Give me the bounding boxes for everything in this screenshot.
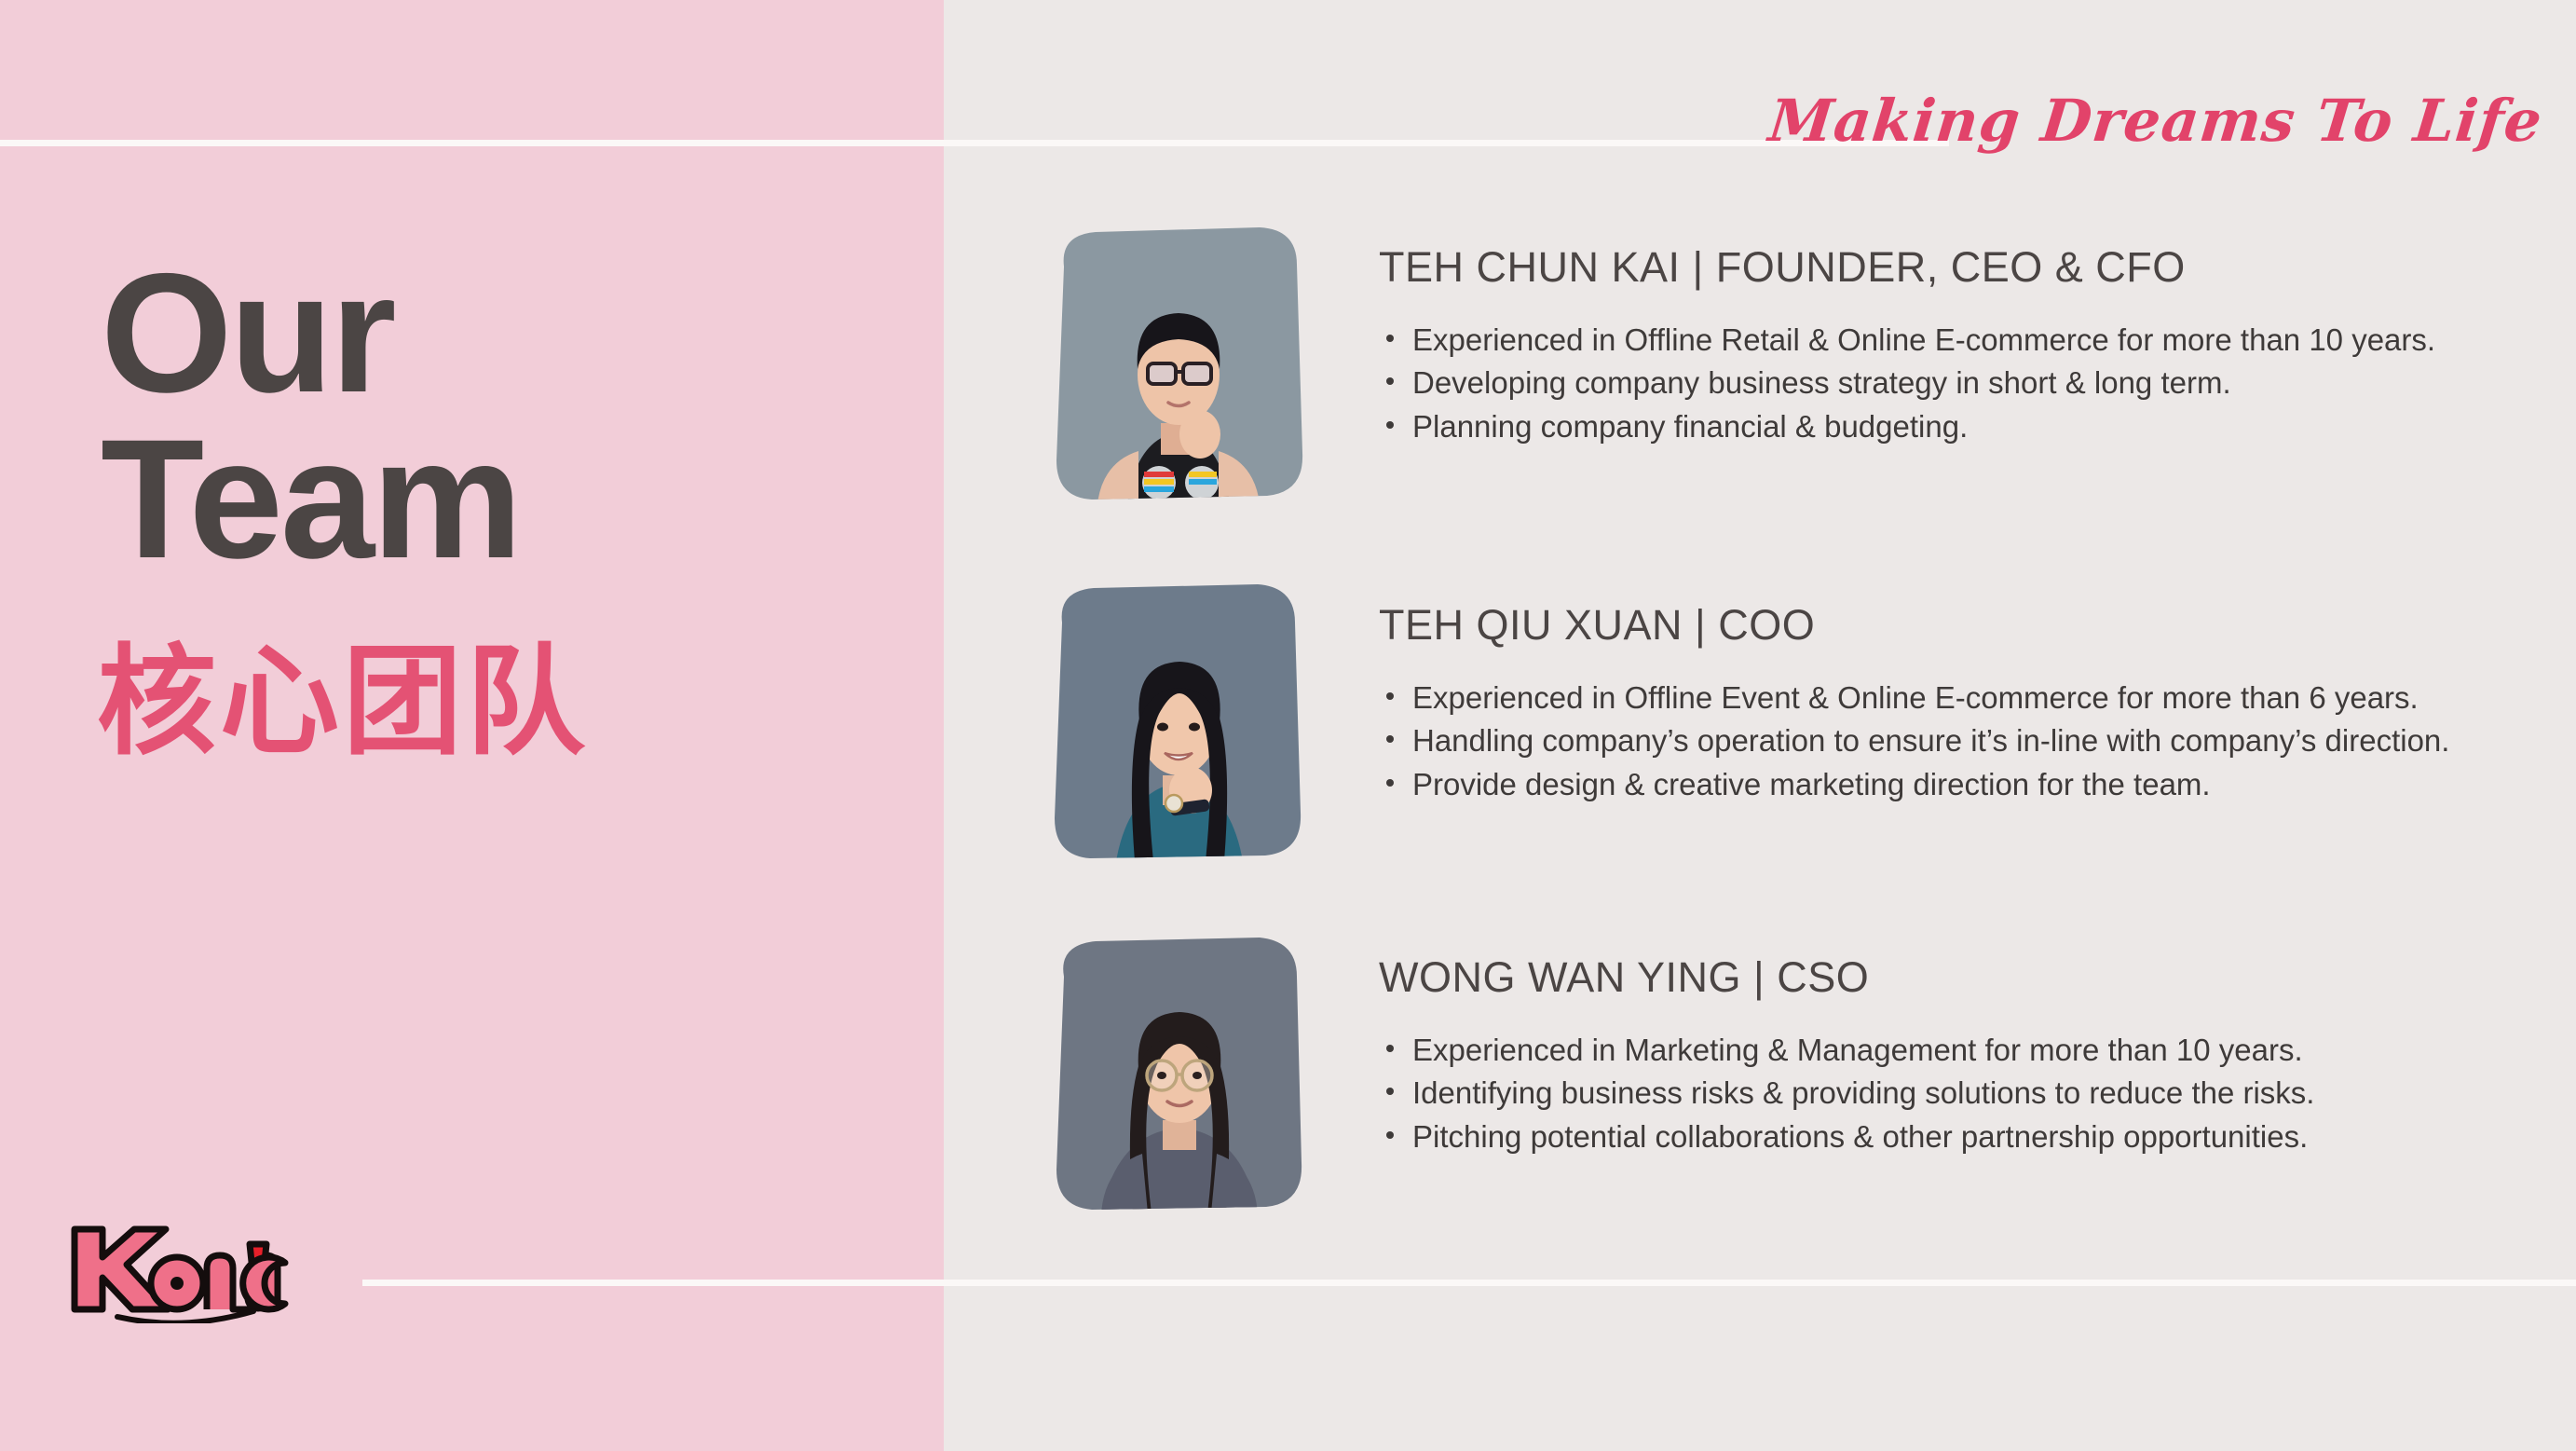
komic-logo (65, 1216, 289, 1323)
list-item: Experienced in Offline Event & Online E-… (1379, 677, 2553, 720)
list-item: Pitching potential collaborations & othe… (1379, 1116, 2553, 1159)
slide-canvas: Our Team 核心团队 Making Dreams To Life (0, 0, 2576, 1451)
team-member-row: WONG WAN YING | CSO Experienced in Marke… (1043, 934, 2553, 1213)
member-photo (1043, 582, 1314, 861)
list-item: Provide design & creative marketing dire… (1379, 763, 2553, 807)
member-points: Experienced in Offline Retail & Online E… (1379, 319, 2553, 450)
member-name: TEH CHUN KAI | FOUNDER, CEO & CFO (1379, 244, 2553, 291)
list-item: Experienced in Offline Retail & Online E… (1379, 319, 2553, 363)
member-info: TEH CHUN KAI | FOUNDER, CEO & CFO Experi… (1379, 224, 2553, 449)
page-title-line-2: Team (101, 416, 865, 582)
member-info: TEH QIU XUAN | COO Experienced in Offlin… (1379, 582, 2553, 807)
bottom-divider-rule (362, 1280, 2576, 1286)
list-item: Handling company’s operation to ensure i… (1379, 719, 2553, 763)
team-member-row: TEH QIU XUAN | COO Experienced in Offlin… (1043, 582, 2553, 861)
member-points: Experienced in Offline Event & Online E-… (1379, 677, 2553, 808)
team-member-row: TEH CHUN KAI | FOUNDER, CEO & CFO Experi… (1043, 224, 2553, 503)
top-divider-rule (0, 140, 1949, 146)
list-item: Developing company business strategy in … (1379, 362, 2553, 405)
member-photo (1043, 934, 1314, 1213)
member-info: WONG WAN YING | CSO Experienced in Marke… (1379, 934, 2553, 1159)
list-item: Planning company financial & budgeting. (1379, 405, 2553, 449)
member-points: Experienced in Marketing & Management fo… (1379, 1029, 2553, 1160)
page-title-chinese: 核心团队 (97, 643, 589, 762)
page-title: Our Team (101, 250, 865, 582)
member-name: WONG WAN YING | CSO (1379, 954, 2553, 1001)
list-item: Identifying business risks & providing s… (1379, 1072, 2553, 1116)
member-photo (1043, 224, 1314, 503)
member-name: TEH QIU XUAN | COO (1379, 602, 2553, 649)
list-item: Experienced in Marketing & Management fo… (1379, 1029, 2553, 1073)
tagline: Making Dreams To Life (1765, 87, 2545, 155)
page-title-line-1: Our (101, 250, 865, 416)
